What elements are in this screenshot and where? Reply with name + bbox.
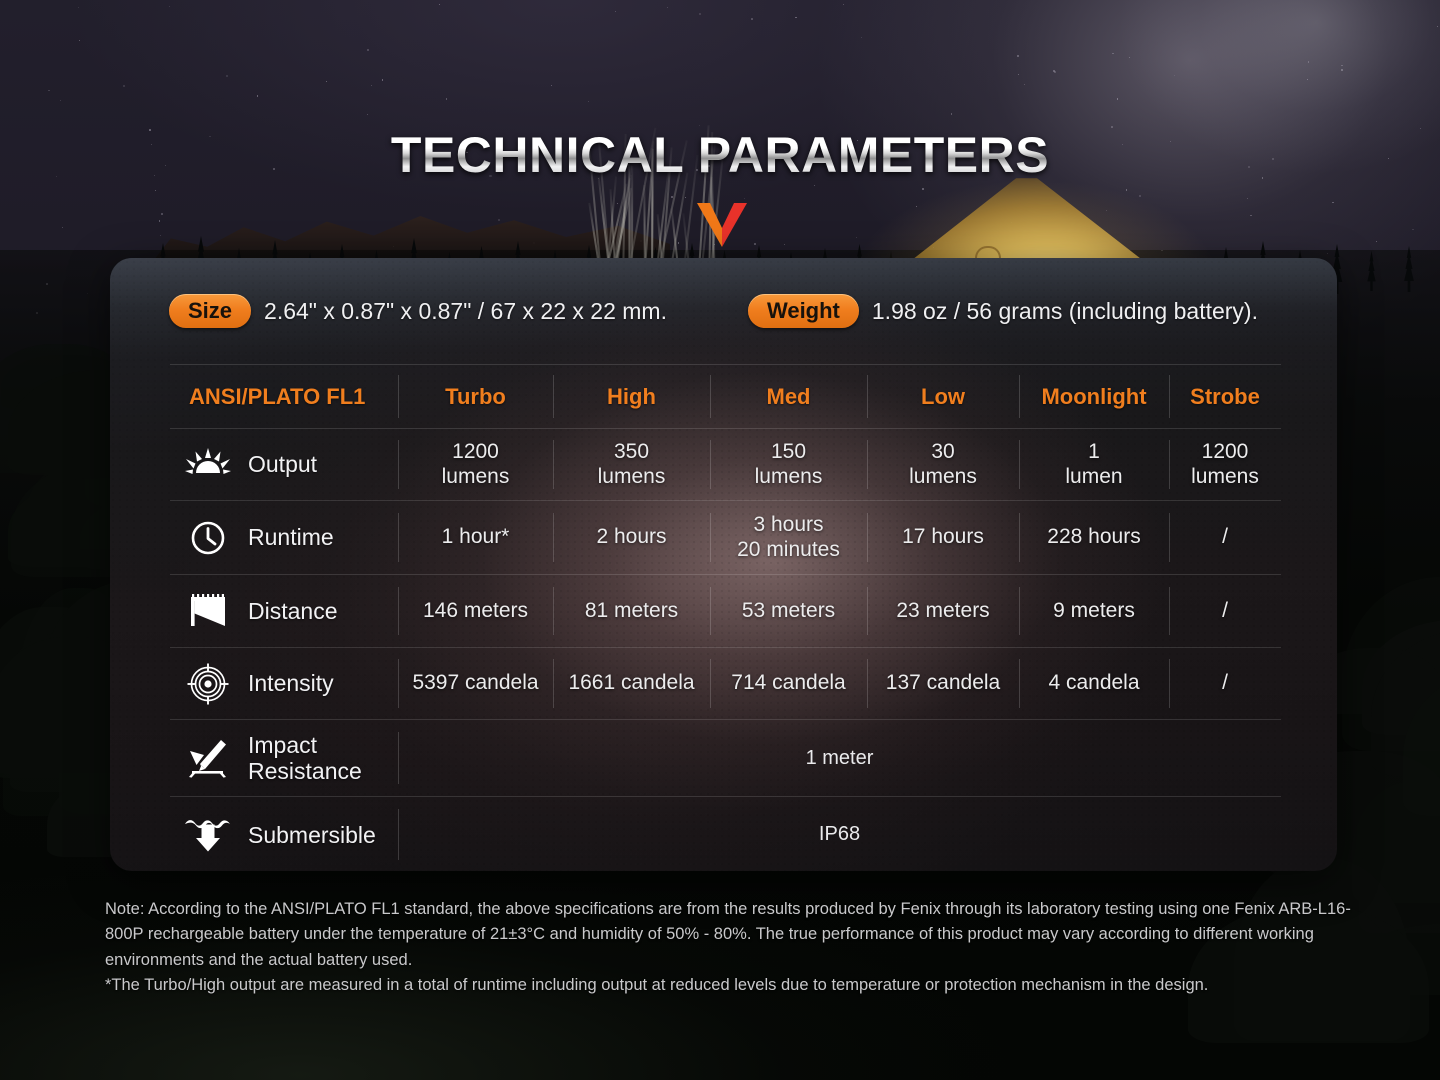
row-label-impact-resistance: ImpactResistance (170, 720, 398, 797)
row-label-runtime: Runtime (170, 501, 398, 575)
size-badge: Size (169, 294, 251, 328)
cell-distance-strobe: / (1169, 575, 1281, 648)
size-value: 2.64" x 0.87" x 0.87" / 67 x 22 x 22 mm. (264, 298, 667, 325)
row-label-submersible: Submersible (170, 797, 398, 872)
water-wave-arrow-icon (182, 815, 234, 855)
spec-panel: Size 2.64" x 0.87" x 0.87" / 67 x 22 x 2… (110, 258, 1337, 871)
row-label-text: Output (248, 451, 317, 477)
cell-runtime-turbo: 1 hour* (398, 501, 553, 575)
footnote-line-1: Note: According to the ANSI/PLATO FL1 st… (105, 897, 1370, 973)
chevron-down-icon (697, 203, 747, 247)
column-header-high: High (553, 365, 710, 429)
row-label-text: Submersible (248, 822, 376, 848)
table-row: Intensity 5397 candela 1661 candela 714 … (170, 648, 1281, 720)
cell-runtime-moonlight: 228 hours (1019, 501, 1169, 575)
cell-intensity-turbo: 5397 candela (398, 648, 553, 720)
row-label-text: Intensity (248, 670, 334, 696)
cell-submersible-value: IP68 (398, 797, 1281, 872)
footnote-line-2: *The Turbo/High output are measured in a… (105, 973, 1370, 998)
cell-distance-turbo: 146 meters (398, 575, 553, 648)
cell-distance-low: 23 meters (867, 575, 1019, 648)
impact-drop-icon (182, 738, 234, 778)
table-row: Distance 146 meters 81 meters 53 meters … (170, 575, 1281, 648)
footnote: Note: According to the ANSI/PLATO FL1 st… (105, 897, 1370, 998)
page-root: TECHNICAL PARAMETERS Size 2.64" x 0.87" … (0, 0, 1440, 1080)
cell-output-high: 350lumens (553, 429, 710, 501)
page-title: TECHNICAL PARAMETERS (0, 126, 1440, 184)
table-row: Runtime 1 hour* 2 hours 3 hours20 minute… (170, 501, 1281, 575)
specs-table: ANSI/PLATO FL1 Turbo High Med Low Moonli… (170, 364, 1281, 871)
cell-runtime-high: 2 hours (553, 501, 710, 575)
cell-output-low: 30lumens (867, 429, 1019, 501)
cell-distance-high: 81 meters (553, 575, 710, 648)
table-row: Output 1200lumens 350lumens 150lumens 30… (170, 429, 1281, 501)
row-label-distance: Distance (170, 575, 398, 648)
row-label-intensity: Intensity (170, 648, 398, 720)
table-row: Submersible IP68 (170, 797, 1281, 872)
cell-runtime-strobe: / (1169, 501, 1281, 575)
cell-distance-moonlight: 9 meters (1019, 575, 1169, 648)
cell-intensity-high: 1661 candela (553, 648, 710, 720)
table-header-row: ANSI/PLATO FL1 Turbo High Med Low Moonli… (170, 365, 1281, 429)
cell-output-med: 150lumens (710, 429, 867, 501)
cell-output-turbo: 1200lumens (398, 429, 553, 501)
cell-intensity-med: 714 candela (710, 648, 867, 720)
weight-value: 1.98 oz / 56 grams (including battery). (872, 298, 1258, 325)
row-label-text: Runtime (248, 524, 334, 550)
row-label-output: Output (170, 429, 398, 501)
table-row: ImpactResistance 1 meter (170, 720, 1281, 797)
weight-badge: Weight (748, 294, 859, 328)
cell-intensity-moonlight: 4 candela (1019, 648, 1169, 720)
column-header-med: Med (710, 365, 867, 429)
sunburst-icon (182, 445, 234, 485)
column-header-turbo: Turbo (398, 365, 553, 429)
row-label-text: Distance (248, 598, 337, 624)
cell-runtime-med: 3 hours20 minutes (710, 501, 867, 575)
row-label-text: ImpactResistance (248, 732, 362, 784)
cell-distance-med: 53 meters (710, 575, 867, 648)
target-icon (182, 664, 234, 704)
cell-output-moonlight: 1lumen (1019, 429, 1169, 501)
cell-output-strobe: 1200lumens (1169, 429, 1281, 501)
clock-icon (182, 518, 234, 558)
cell-impact-resistance-value: 1 meter (398, 720, 1281, 797)
column-header-ansi: ANSI/PLATO FL1 (170, 365, 398, 429)
column-header-low: Low (867, 365, 1019, 429)
column-header-strobe: Strobe (1169, 365, 1281, 429)
spec-header-row: Size 2.64" x 0.87" x 0.87" / 67 x 22 x 2… (110, 280, 1337, 342)
cell-intensity-strobe: / (1169, 648, 1281, 720)
cell-runtime-low: 17 hours (867, 501, 1019, 575)
column-header-moonlight: Moonlight (1019, 365, 1169, 429)
beam-distance-icon (182, 591, 234, 631)
cell-intensity-low: 137 candela (867, 648, 1019, 720)
